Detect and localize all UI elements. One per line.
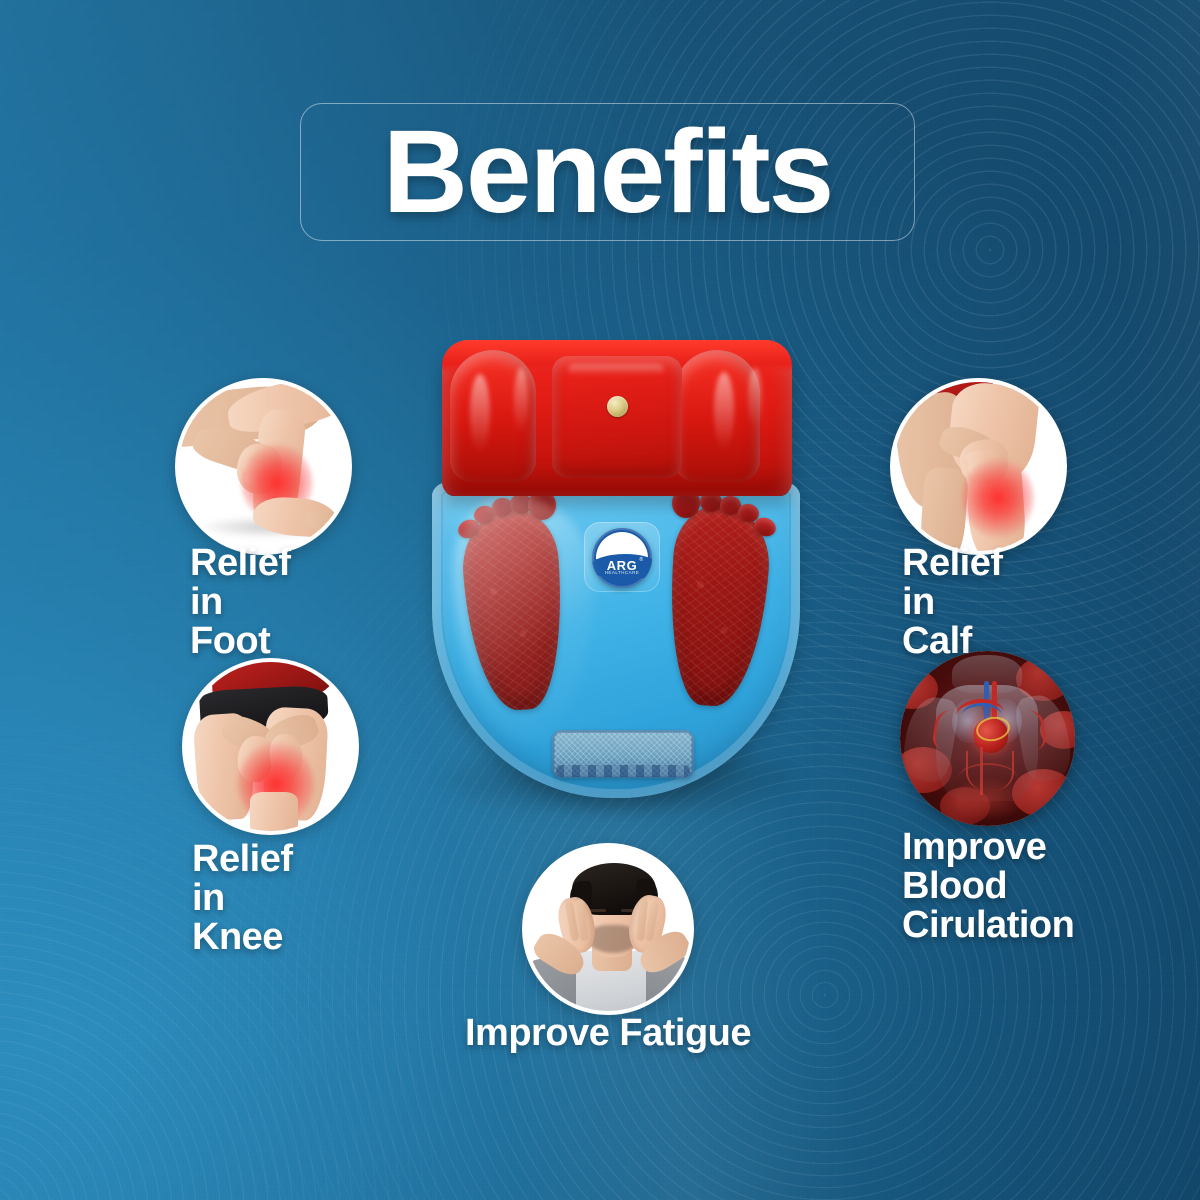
improve-fatigue-label: Improve Fatigue (448, 1014, 768, 1053)
roller-center-screw (607, 396, 628, 417)
improve-blood-cirulation-label: Improve Blood Cirulation (902, 828, 1074, 944)
relief-in-knee-label: Relief in Knee (192, 840, 292, 956)
roller-highlight (514, 368, 528, 434)
handle-wave-edge (556, 765, 690, 777)
arg-brand-logo: ARG ® HEALTHCARE (592, 528, 652, 588)
relief-in-knee-photo (182, 658, 359, 835)
roller-highlight (748, 368, 762, 430)
relief-in-foot-photo (175, 378, 352, 555)
logo-registered-mark: ® (639, 557, 643, 563)
product-image-foot-massager: ARG ® HEALTHCARE (418, 334, 822, 830)
roller-highlight (470, 374, 490, 452)
roller-highlight (714, 372, 734, 450)
product-handle-strip (552, 730, 694, 778)
improve-blood-cirulation-photo (900, 651, 1075, 826)
infographic-canvas: Benefits Rel (0, 0, 1200, 1200)
relief-in-calf-label: Relief in Calf (902, 544, 1002, 660)
relief-in-foot-label: Relief in Foot (190, 544, 290, 660)
roller-highlight (568, 364, 664, 376)
logo-subtext: HEALTHCARE (592, 571, 652, 576)
page-title: Benefits (300, 96, 915, 248)
relief-in-calf-photo (890, 378, 1067, 555)
improve-fatigue-photo (522, 843, 694, 1015)
